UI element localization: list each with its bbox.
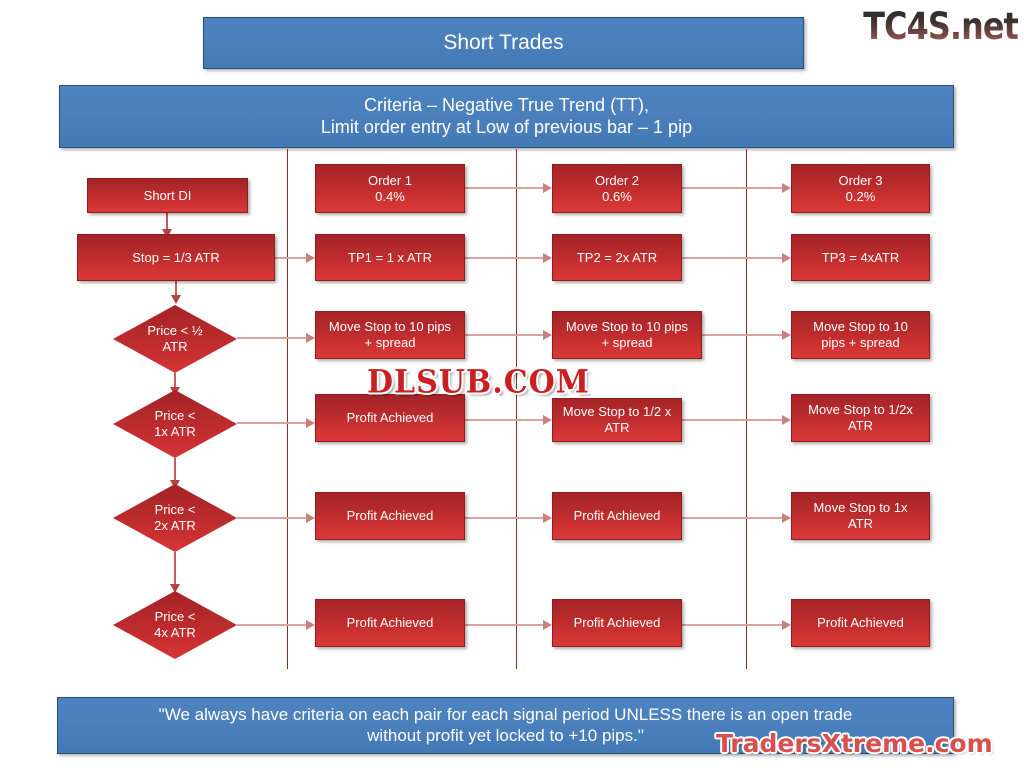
- dlsub-watermark: DLSUB.COM: [367, 364, 590, 401]
- column-divider-2: [516, 149, 517, 669]
- connector-r5-c3-c4: [682, 517, 782, 519]
- connector-r6-c2-c3: [465, 624, 543, 626]
- node-move-stop-half-col3-line-1: Move Stop to 1/2 x: [563, 404, 671, 420]
- connector-tp2-tp3: [682, 257, 782, 259]
- arrow-order1-order2: [543, 183, 552, 193]
- node-tp1[interactable]: TP1 = 1 x ATR: [315, 234, 465, 281]
- column-divider-1: [287, 149, 288, 669]
- arrow-r5-c2-c3: [543, 513, 552, 523]
- slide-title-banner: Short Trades: [203, 17, 804, 69]
- node-move-stop-10-pips-col2[interactable]: Move Stop to 10 pips + spread: [315, 311, 465, 359]
- arrow-r4-c2-c3: [543, 415, 552, 425]
- node-short-di[interactable]: Short DI: [87, 178, 248, 213]
- node-move-stop-10-col3-line-1: Move Stop to 10 pips: [566, 319, 688, 335]
- node-tp2-label: TP2 = 2x ATR: [577, 250, 657, 266]
- slide-canvas: TC4S.net Short Trades Criteria – Negativ…: [0, 0, 1024, 768]
- node-profit-achieved-r5c3[interactable]: Profit Achieved: [552, 492, 682, 540]
- arrow-price-4x-profit: [306, 620, 315, 630]
- connector-price-1x-price-2x: [174, 458, 176, 482]
- node-stop-atr[interactable]: Stop = 1/3 ATR: [77, 234, 275, 281]
- connector-r3-c3-c4: [702, 334, 782, 336]
- node-profit-achieved-r5c2[interactable]: Profit Achieved: [315, 492, 465, 540]
- arrow-r5-c3-c4: [782, 513, 791, 523]
- node-move-stop-half-col3-line-2: ATR: [563, 420, 671, 436]
- criteria-line-1: Criteria – Negative True Trend (TT),: [70, 95, 943, 117]
- footer-quote-line-1: "We always have criteria on each pair fo…: [66, 705, 945, 726]
- arrow-r3-c3-c4: [782, 330, 791, 340]
- connector-r3-c2-c3: [465, 334, 543, 336]
- arrow-r6-c2-c3: [543, 620, 552, 630]
- arrow-price-half-movestop: [306, 333, 315, 343]
- node-profit-achieved-r6c3-label: Profit Achieved: [574, 615, 661, 631]
- node-order-1[interactable]: Order 1 0.4%: [315, 164, 465, 213]
- slide-title-text: Short Trades: [443, 30, 563, 56]
- arrow-price-2x-profit: [306, 513, 315, 523]
- arrow-r4-c3-c4: [782, 415, 791, 425]
- node-move-stop-10-col3-line-2: + spread: [566, 335, 688, 351]
- arrow-price-1x-profit: [306, 418, 315, 428]
- decision-price-2x-atr[interactable]: Price < 2x ATR: [113, 484, 237, 552]
- node-profit-achieved-r6c3[interactable]: Profit Achieved: [552, 599, 682, 647]
- node-move-stop-10-col2-line-1: Move Stop to 10 pips: [329, 319, 451, 335]
- decision-price-1x-line-1: Price <: [154, 408, 196, 424]
- node-order-2-line-2: 0.6%: [595, 189, 639, 205]
- node-move-stop-1x-col4-line-1: Move Stop to 1x: [814, 500, 908, 516]
- column-divider-3: [746, 149, 747, 669]
- connector-stop-tp1: [275, 257, 306, 259]
- node-order-2-line-1: Order 2: [595, 173, 639, 189]
- node-order-3[interactable]: Order 3 0.2%: [791, 164, 930, 213]
- node-profit-achieved-r5c3-label: Profit Achieved: [574, 508, 661, 524]
- node-order-3-line-2: 0.2%: [838, 189, 882, 205]
- decision-price-half-line-2: ATR: [147, 339, 202, 355]
- decision-price-1x-atr-label: Price < 1x ATR: [113, 390, 237, 458]
- node-tp2[interactable]: TP2 = 2x ATR: [552, 234, 682, 281]
- node-move-stop-10-col2-line-2: + spread: [329, 335, 451, 351]
- node-move-stop-10-pips-col4[interactable]: Move Stop to 10 pips + spread: [791, 311, 930, 359]
- arrow-order2-order3: [782, 183, 791, 193]
- node-stop-atr-label: Stop = 1/3 ATR: [132, 250, 220, 266]
- decision-price-4x-atr[interactable]: Price < 4x ATR: [113, 591, 237, 659]
- decision-price-half-atr[interactable]: Price < ½ ATR: [113, 305, 237, 373]
- node-tp1-label: TP1 = 1 x ATR: [348, 250, 432, 266]
- decision-price-1x-line-2: 1x ATR: [154, 424, 196, 440]
- node-profit-achieved-r6c2-label: Profit Achieved: [347, 615, 434, 631]
- node-tp3-label: TP3 = 4xATR: [822, 250, 899, 266]
- node-profit-achieved-r6c4[interactable]: Profit Achieved: [791, 599, 930, 647]
- connector-r5-c2-c3: [465, 517, 543, 519]
- decision-price-4x-line-1: Price <: [154, 609, 196, 625]
- connector-tp1-tp2: [465, 257, 543, 259]
- connector-price-4x-profit: [237, 624, 306, 626]
- criteria-line-2: Limit order entry at Low of previous bar…: [70, 117, 943, 139]
- arrow-tp2-tp3: [782, 253, 791, 263]
- node-move-stop-half-col3[interactable]: Move Stop to 1/2 x ATR: [552, 398, 682, 442]
- node-move-stop-half-col4-line-2: ATR: [808, 418, 913, 434]
- connector-price-half-movestop: [237, 337, 306, 339]
- decision-price-2x-atr-label: Price < 2x ATR: [113, 484, 237, 552]
- connector-order2-order3: [682, 187, 782, 189]
- connector-r4-c3-c4: [682, 419, 782, 421]
- decision-price-2x-line-2: 2x ATR: [154, 518, 196, 534]
- node-profit-achieved-r4c2[interactable]: Profit Achieved: [315, 394, 465, 442]
- connector-order1-order2: [465, 187, 543, 189]
- node-short-di-label: Short DI: [144, 188, 192, 204]
- node-move-stop-half-col4[interactable]: Move Stop to 1/2x ATR: [791, 394, 930, 442]
- tradersxtreme-watermark: TradersXtreme.com: [716, 729, 993, 758]
- node-order-2[interactable]: Order 2 0.6%: [552, 164, 682, 213]
- node-move-stop-10-pips-col3[interactable]: Move Stop to 10 pips + spread: [552, 311, 702, 359]
- node-order-3-line-1: Order 3: [838, 173, 882, 189]
- decision-price-2x-line-1: Price <: [154, 502, 196, 518]
- node-profit-achieved-r4c2-label: Profit Achieved: [347, 410, 434, 426]
- node-move-stop-1x-col4-line-2: ATR: [814, 516, 908, 532]
- arrow-tp1-tp2: [543, 253, 552, 263]
- connector-price-2x-profit: [237, 517, 306, 519]
- tc4s-logo: TC4S.net: [858, 4, 1018, 48]
- decision-price-half-atr-label: Price < ½ ATR: [113, 305, 237, 373]
- node-order-1-line-1: Order 1: [368, 173, 412, 189]
- decision-price-4x-line-2: 4x ATR: [154, 625, 196, 641]
- decision-price-1x-atr[interactable]: Price < 1x ATR: [113, 390, 237, 458]
- arrow-stop-price-half: [171, 295, 181, 304]
- arrow-r6-c3-c4: [782, 620, 791, 630]
- decision-price-half-line-1: Price < ½: [147, 323, 202, 339]
- node-tp3[interactable]: TP3 = 4xATR: [791, 234, 930, 281]
- node-profit-achieved-r5c2-label: Profit Achieved: [347, 508, 434, 524]
- decision-price-4x-atr-label: Price < 4x ATR: [113, 591, 237, 659]
- arrow-r3-c2-c3: [543, 330, 552, 340]
- connector-r4-c2-c3: [465, 419, 543, 421]
- node-profit-achieved-r6c2[interactable]: Profit Achieved: [315, 599, 465, 647]
- node-order-1-line-2: 0.4%: [368, 189, 412, 205]
- node-move-stop-1x-col4[interactable]: Move Stop to 1x ATR: [791, 492, 930, 540]
- connector-r6-c3-c4: [682, 624, 782, 626]
- node-profit-achieved-r6c4-label: Profit Achieved: [817, 615, 904, 631]
- arrow-stop-tp1: [306, 253, 315, 263]
- criteria-banner: Criteria – Negative True Trend (TT), Lim…: [59, 85, 954, 148]
- connector-price-2x-price-4x: [174, 552, 176, 586]
- node-move-stop-10-col4-line-1: Move Stop to 10: [813, 319, 908, 335]
- node-move-stop-10-col4-line-2: pips + spread: [813, 335, 908, 351]
- node-move-stop-half-col4-line-1: Move Stop to 1/2x: [808, 402, 913, 418]
- connector-price-1x-profit: [237, 422, 306, 424]
